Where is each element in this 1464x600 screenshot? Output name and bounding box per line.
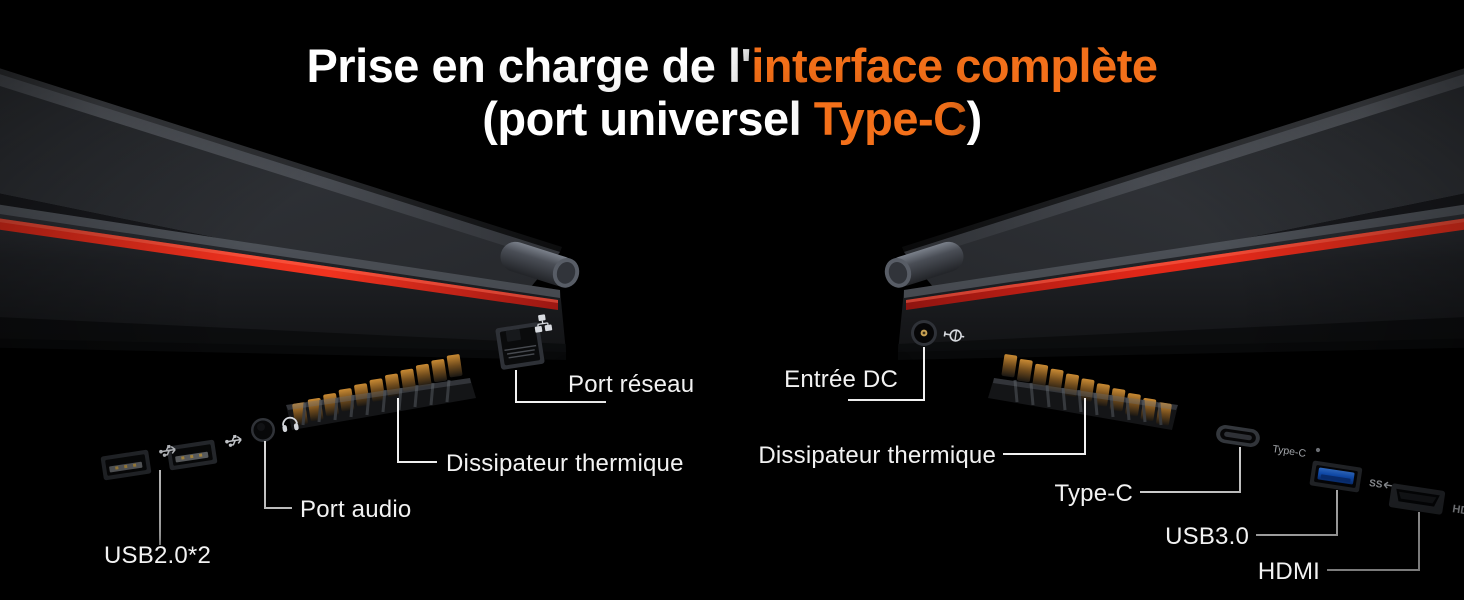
product-feature-banner: Type-C SS HD (0, 0, 1464, 600)
hdmi-silkscreen: HD (1452, 503, 1464, 517)
callout-label-network: Port réseau (568, 371, 694, 399)
callout-label-typec: Type-C (1054, 480, 1133, 508)
callout-label-dc: Entrée DC (784, 366, 898, 394)
laptop-ports-illustration: Type-C SS HD (0, 0, 1464, 600)
callout-label-usb20: USB2.0*2 (104, 542, 211, 570)
callout-label-heatsink-right: Dissipateur thermique (758, 442, 996, 470)
callout-label-usb3: USB3.0 (1165, 523, 1249, 551)
callout-label-hdmi: HDMI (1258, 558, 1320, 586)
svg-text:SS: SS (1368, 478, 1383, 491)
callout-label-port-audio: Port audio (300, 496, 411, 524)
callout-label-heatsink-left: Dissipateur thermique (446, 450, 684, 478)
